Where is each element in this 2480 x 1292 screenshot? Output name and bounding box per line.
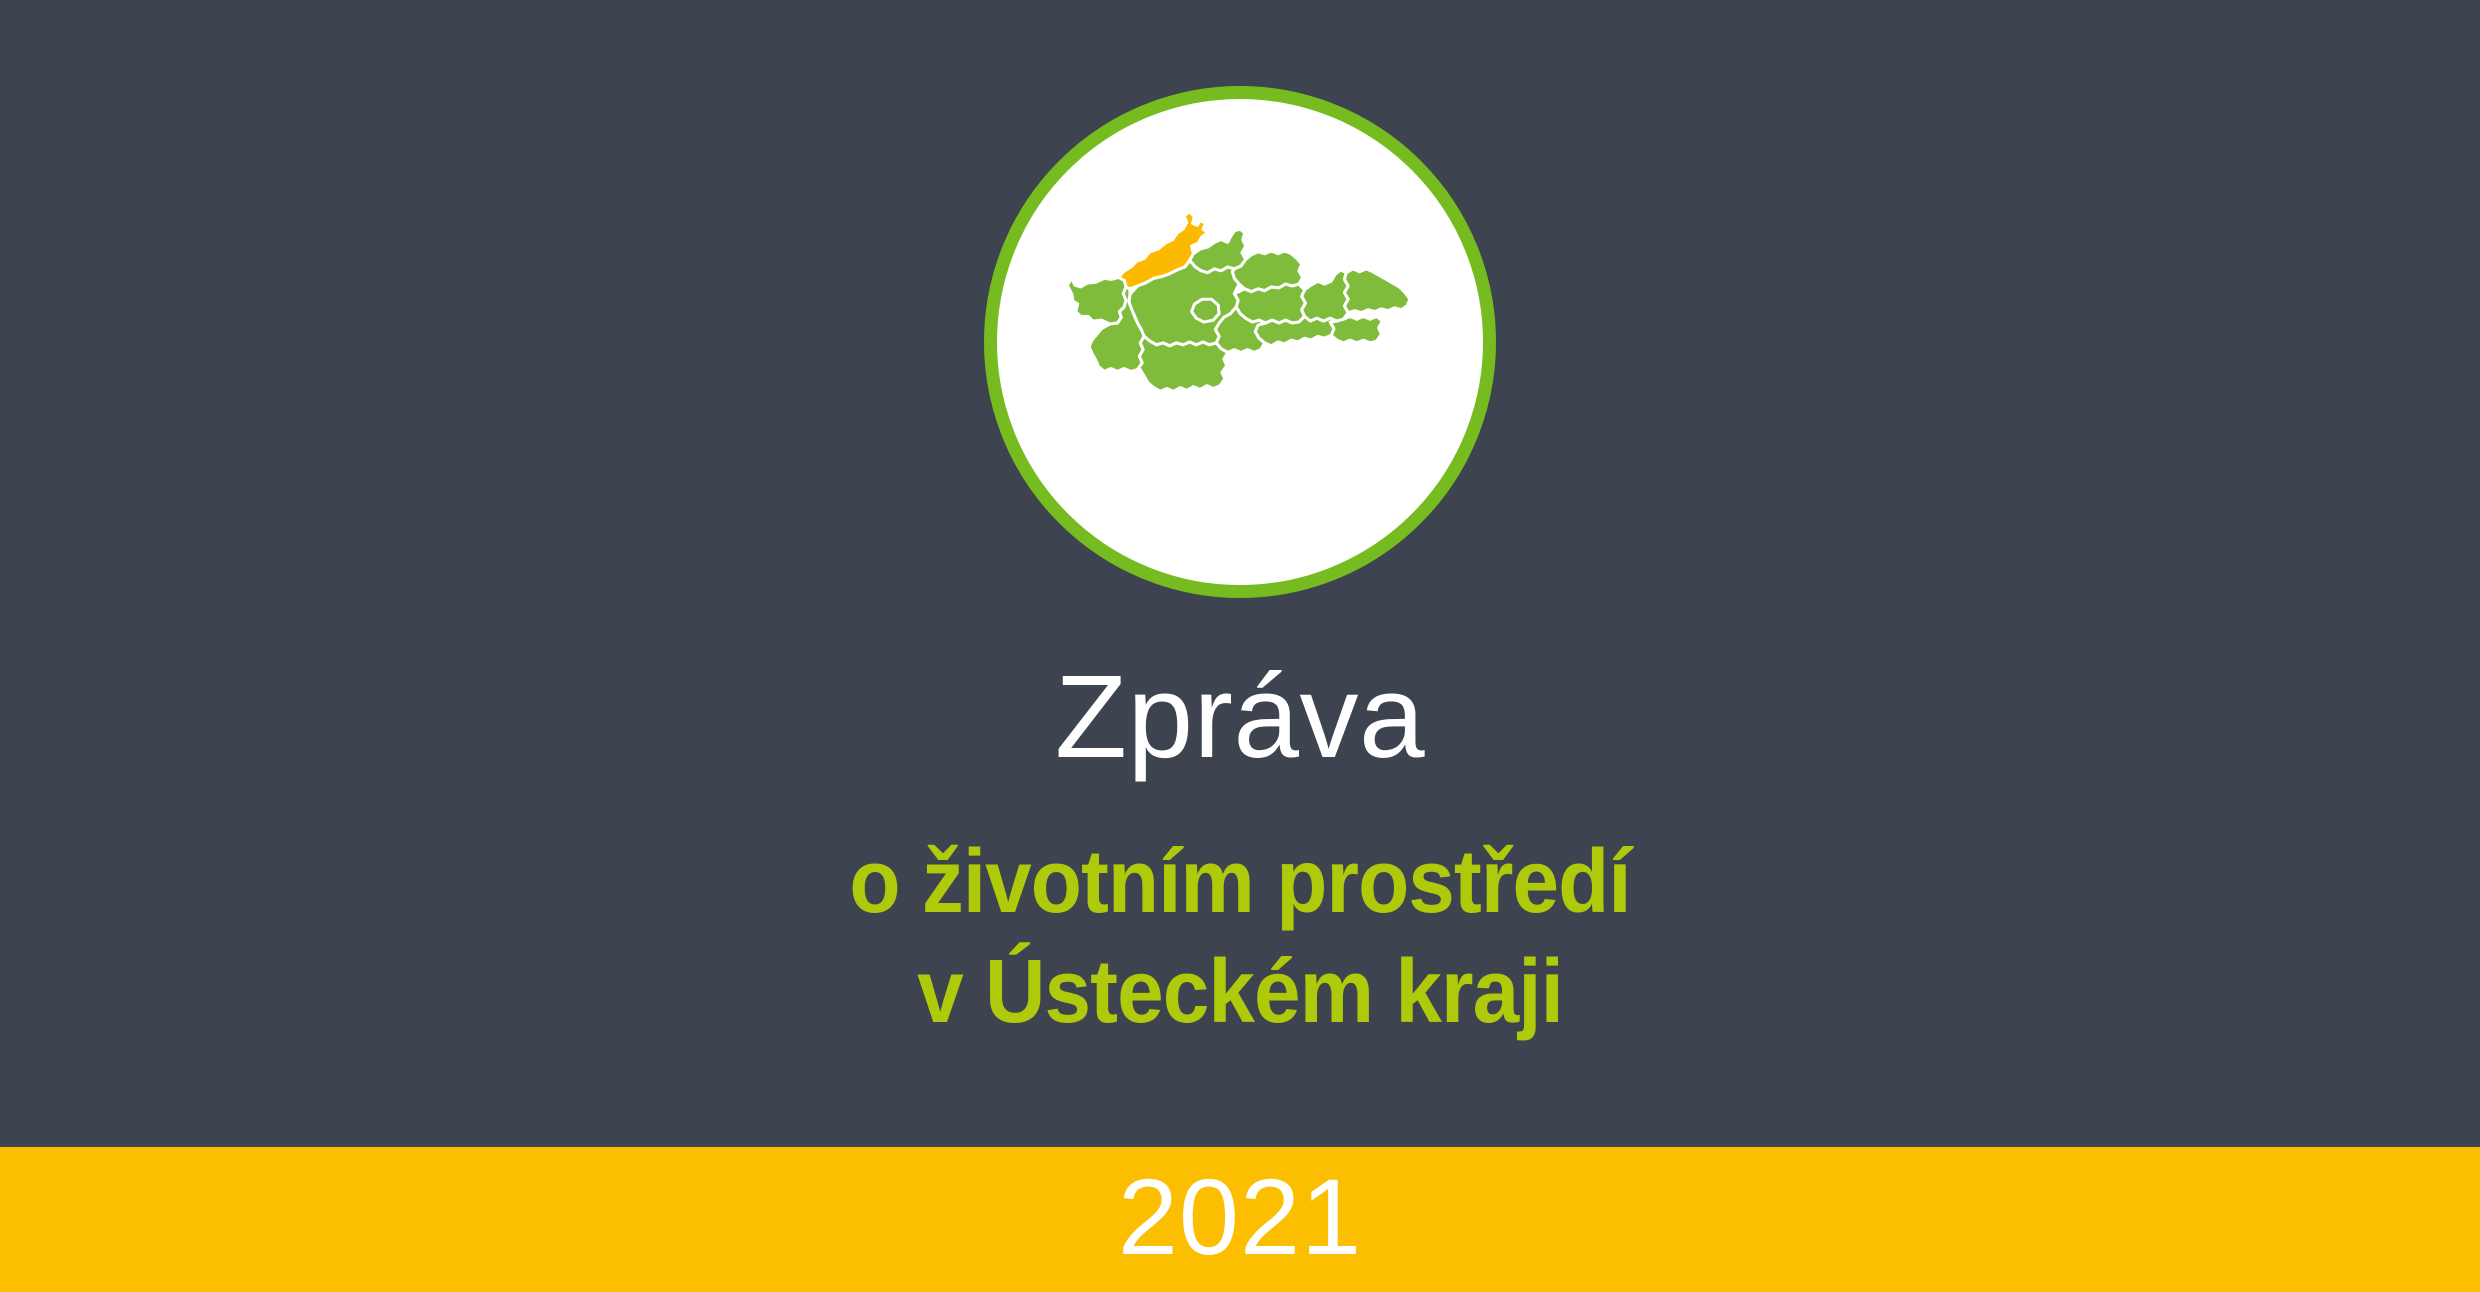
year-band: 2021 (0, 1147, 2480, 1292)
year-label: 2021 (0, 1160, 2480, 1273)
page-subtitle: o životním prostředí v Ústeckém kraji (0, 828, 2480, 1048)
report-cover: Zpráva o životním prostředí v Ústeckém k… (0, 0, 2480, 1292)
page-subtitle-line-2: v Ústeckém kraji (87, 938, 2393, 1048)
page-title: Zpráva (0, 655, 2480, 780)
czech-republic-regions-map-icon (997, 99, 1483, 585)
emblem-badge (984, 86, 1496, 598)
page-subtitle-line-1: o životním prostředí (87, 828, 2393, 938)
